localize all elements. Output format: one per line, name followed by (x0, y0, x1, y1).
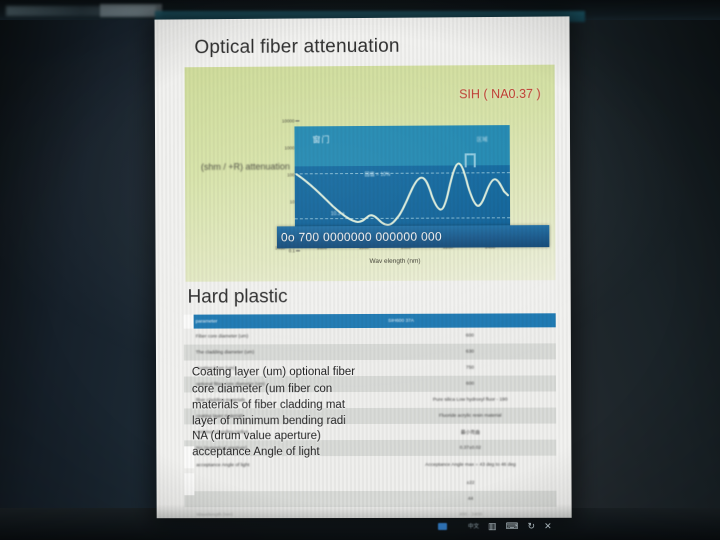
y-tick: 10000 (255, 118, 295, 123)
section-title: Hard plastic (188, 286, 288, 308)
keyboard-icon[interactable]: ⌨ (506, 521, 519, 532)
y-tick: 100 (255, 172, 295, 177)
gutter-mark (184, 473, 194, 495)
column-header-model: SIH600 37A (384, 313, 556, 328)
ocr-line[interactable]: NA (drum value aperture) (192, 430, 321, 442)
table-row: acceptance Angle of light Acceptance Ang… (184, 456, 556, 476)
cell-value: 750 (384, 359, 556, 376)
ocr-line[interactable]: materials of fiber cladding mat (192, 399, 345, 411)
taskbar-ime-label[interactable]: 中文 (468, 522, 479, 530)
cell-name: Fiber core diameter (um) (184, 328, 384, 345)
chart-x-axis-label: Wav elength (nm) (330, 258, 460, 267)
ocr-overlay-text: 0o 700 0000000 000000 000 (281, 230, 442, 245)
page-title: Optical fiber attenuation (194, 36, 399, 59)
table-row: The cladding diameter (um) 630 (184, 343, 556, 360)
table-header-row: parameter SIH600 37A (184, 313, 556, 328)
browser-tab[interactable] (100, 4, 162, 17)
column-header-parameter: parameter (184, 314, 384, 329)
taskbar: 中文 ▥ ⌨ ↻ ✕ (430, 516, 680, 536)
ocr-line[interactable]: core diameter (um fiber con (192, 383, 332, 395)
photo-of-screen: Optical fiber attenuation SIH ( NA0.37 )… (0, 0, 720, 540)
cell-value: 0.37±0.02 (385, 440, 557, 456)
cell-name: The cladding diameter (um) (184, 344, 384, 361)
ocr-line[interactable]: Coating layer (um) optional fiber (192, 366, 355, 378)
ocr-line[interactable]: acceptance Angle of light (192, 446, 320, 458)
cell-value: 600 (384, 375, 556, 392)
cell-value: 600 (384, 327, 556, 344)
ocr-line[interactable]: layer of minimum bending radi (192, 415, 346, 427)
cell-value: Fluoride acrylic resin material (384, 408, 556, 424)
cell-value: Acceptance Angle max = 43 deg to 46 deg (385, 456, 557, 475)
close-icon[interactable]: ✕ (544, 521, 552, 532)
cell-value: 630 (384, 343, 556, 360)
slide-viewport: Optical fiber attenuation SIH ( NA0.37 )… (155, 16, 572, 518)
gutter-mark (184, 315, 194, 329)
cell-value: 最小弯曲 (385, 424, 557, 440)
ocr-overlay-strip[interactable]: 0o 700 0000000 000000 000 (277, 225, 549, 248)
cell-value: ±22 (385, 475, 557, 491)
cell-name: acceptance Angle of light (184, 456, 385, 475)
table-row: ±22 (184, 475, 556, 492)
cell-name (184, 475, 385, 491)
taskbar-app-button[interactable] (438, 523, 450, 530)
y-tick: 1000 (255, 145, 295, 150)
cell-value: Pure silica Low hydroxyl fluor - 190 (384, 391, 556, 407)
chart-panel: SIH ( NA0.37 ) 10000 1000 100 10 1 0.1 (… (185, 65, 556, 282)
y-tick: 10 (255, 199, 295, 204)
chart-y-axis-label: (shm / +R) attenuation (201, 161, 290, 171)
app-icon (438, 523, 447, 530)
chart-legend-label: SIH ( NA0.37 ) (459, 87, 541, 102)
desk-right (550, 0, 720, 540)
chart-icon[interactable]: ▥ (488, 521, 497, 532)
refresh-icon[interactable]: ↻ (528, 521, 536, 532)
table-row: Fiber core diameter (um) 600 (184, 327, 556, 344)
desk-left (0, 0, 160, 540)
